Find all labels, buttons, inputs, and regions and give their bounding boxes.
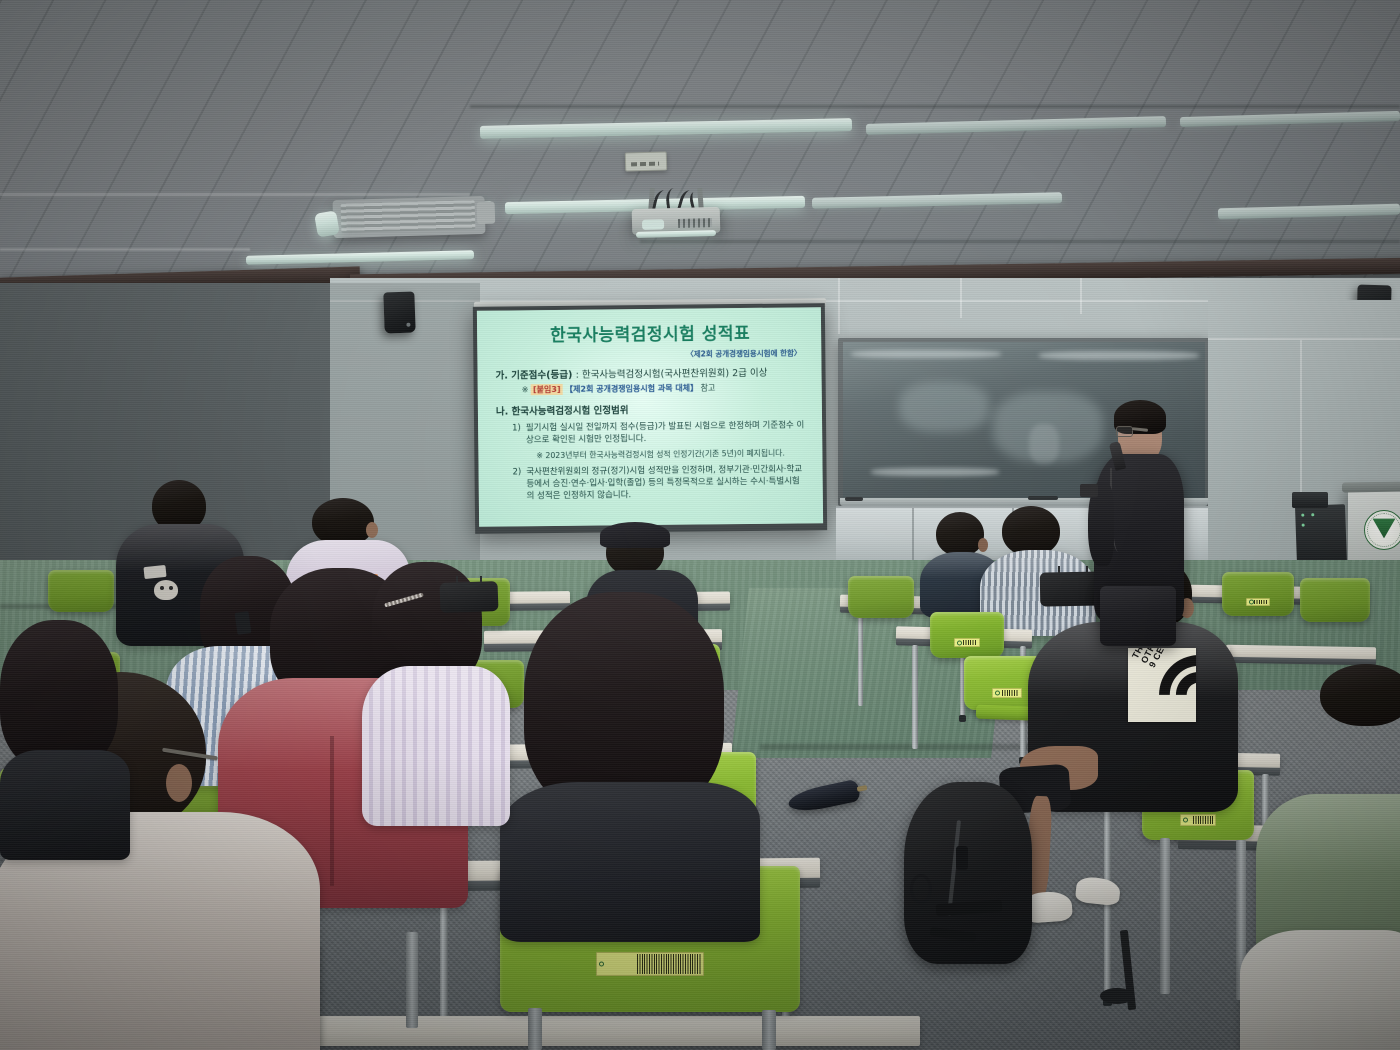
wall-panel-seam [1208, 338, 1400, 340]
chair[interactable] [1300, 578, 1370, 622]
ceiling-seam [470, 105, 1400, 108]
torso [500, 782, 760, 942]
wall-panel-seam [838, 278, 840, 334]
chair-leg [528, 1008, 542, 1050]
ceiling-access-plate [625, 151, 667, 171]
vent-louvers [341, 200, 476, 233]
whiteboard-smudge [851, 350, 1001, 358]
item-number: 1) [512, 422, 521, 447]
slide-content: 한국사능력검정시험 성적표 〈제2회 공개경쟁임용시험에 한함〉 가. 기준점수… [477, 307, 823, 527]
whiteboard-smudge [899, 382, 989, 432]
panel-led [1302, 524, 1305, 527]
cap [600, 522, 670, 548]
whiteboard-smudge [1029, 424, 1059, 464]
chair[interactable] [1222, 572, 1294, 616]
panel-led [1301, 514, 1304, 517]
eyeglasses [1116, 426, 1133, 437]
backpack-strap [936, 900, 1003, 917]
torso [1240, 930, 1400, 1050]
chair-asset-label [596, 952, 704, 976]
label-logo [995, 691, 1000, 696]
vent-sensor [314, 210, 340, 237]
section-b-marker: 나. [496, 406, 508, 417]
tshirt-print [144, 566, 188, 600]
note-emphasis: 【제2회 공개경쟁임용시험 과목 대체】 [565, 383, 698, 393]
note-bullet: ※ [522, 385, 529, 394]
whiteboard-marker [1028, 496, 1058, 500]
chair-leg [406, 932, 418, 1028]
whiteboard-smudge [1039, 351, 1199, 360]
ceiling-air-vent [332, 196, 485, 238]
label-barcode [637, 954, 701, 974]
chair[interactable] [848, 576, 914, 618]
presenter-trousers [1100, 586, 1176, 646]
chair-asset-label [1180, 814, 1216, 826]
blouse-placket [330, 736, 334, 886]
head [312, 498, 374, 546]
presentation-clicker[interactable] [1080, 484, 1098, 497]
slide-subtitle: 〈제2회 공개경쟁임용시험에 한함〉 [495, 347, 805, 361]
label-logo [599, 962, 604, 967]
smartphone[interactable] [235, 611, 252, 635]
note-bracket: [붙임3] [531, 384, 563, 395]
item-text: 국사편찬위원회의 정규(정기)시험 성적만을 인정하며, 정부기관·민간회사·학… [526, 463, 807, 503]
chair-asset-label [954, 638, 980, 647]
label-barcode [1002, 690, 1019, 696]
backpack-strap [930, 927, 977, 942]
desk-leg [912, 645, 918, 749]
chair-asset-label [992, 688, 1022, 698]
ceiling-texture [0, 0, 1400, 300]
chair-back [1300, 578, 1370, 622]
av-control-panel[interactable] [1295, 504, 1347, 566]
panel-led [1311, 513, 1314, 516]
speaker-led [406, 323, 410, 327]
head [1002, 506, 1060, 556]
slide-section-b: 나. 한국사능력검정시험 인정범위 [496, 400, 806, 417]
ceiling [0, 0, 1400, 300]
hair [0, 620, 118, 770]
head [1320, 664, 1400, 726]
item-number: 2) [513, 466, 522, 503]
backpack-loop [910, 874, 932, 904]
plate-markings [631, 162, 659, 167]
slide-title: 한국사능력검정시험 성적표 [495, 318, 805, 346]
label-barcode [963, 640, 977, 645]
wall-panel-seam [1080, 278, 1082, 314]
wall-speaker-left [383, 291, 415, 333]
podium-top-surface [1342, 481, 1400, 492]
chair-leg [762, 1010, 776, 1050]
av-equipment [1292, 492, 1328, 508]
section-a-marker: 가. [496, 370, 508, 381]
ceiling-seam [0, 193, 470, 196]
vent-end-cap [477, 202, 496, 224]
bag-handle [456, 576, 482, 587]
chair-back [1222, 572, 1294, 616]
northface-arcs-icon [1156, 652, 1196, 698]
floor-transition [760, 744, 1060, 750]
cabinet-seam [912, 508, 914, 562]
backpack-buckle [956, 846, 968, 870]
label-logo [957, 640, 962, 645]
wall-panel-seam [960, 278, 962, 318]
slide-section-a: 가. 기준점수(등급) : 한국사능력검정시험(국사편찬위원회) 2급 이상 [495, 364, 805, 381]
label-logo [1183, 818, 1188, 823]
torso [362, 666, 510, 826]
black-backpack[interactable] [904, 782, 1032, 964]
lecture-hall-screenshot: 한국사능력검정시험 성적표 〈제2회 공개경쟁임용시험에 한함〉 가. 기준점수… [0, 0, 1400, 1050]
ceiling-seam [640, 240, 1400, 243]
chair[interactable] [48, 570, 114, 612]
slide-section-a-note: ※ [붙임3] 【제2회 공개경쟁임용시험 과목 대체】 참고 [522, 381, 806, 395]
ceiling-seam [0, 248, 250, 251]
section-b-label: 한국사능력검정시험 인정범위 [512, 405, 629, 417]
projection-screen: 한국사능력검정시험 성적표 〈제2회 공개경쟁임용시험에 한함〉 가. 기준점수… [477, 307, 823, 527]
whiteboard-eraser [845, 497, 863, 501]
ear [366, 522, 378, 538]
chair-asset-label [1246, 598, 1270, 606]
desk-leg [858, 612, 863, 706]
label-barcode [1254, 600, 1267, 604]
chair-leg [1160, 838, 1170, 994]
slide-item: 2) 국사편찬위원회의 정규(정기)시험 성적만을 인정하며, 정부기관·민간회… [513, 463, 807, 503]
chair[interactable] [930, 612, 1004, 658]
slide-item: 1) 필기시험 실시일 전일까지 점수(등급)가 발표된 시험으로 한정하며 기… [512, 419, 806, 447]
projector-vents [678, 218, 712, 228]
shoulder-highlight [362, 666, 510, 826]
chair-back [930, 612, 1004, 658]
label-barcode [1193, 816, 1213, 824]
tshirt-logo: THE OTH 9 CE [1128, 648, 1196, 722]
section-a-body: : 한국사능력검정시험(국사편찬위원회) 2급 이상 [576, 368, 768, 381]
head [936, 512, 984, 556]
chair-back [48, 570, 114, 612]
torso [0, 750, 130, 860]
item-text: 필기시험 실시일 전일까지 점수(등급)가 발표된 시험으로 한정하며 기준점수… [526, 419, 807, 447]
chair-back [848, 576, 914, 618]
tripod-foot [1100, 988, 1134, 1004]
ear [978, 538, 988, 552]
whiteboard-smudge [871, 468, 999, 476]
ear [166, 764, 192, 802]
university-emblem [1364, 510, 1400, 550]
section-a-label: 기준점수(등급) [511, 370, 572, 382]
bag-handle [1058, 566, 1088, 578]
slide-subnote: ※ 2023년부터 한국사능력검정시험 성적 인정기간(기존 5년)이 폐지됩니… [536, 447, 806, 461]
note-tail: 참고 [701, 383, 716, 392]
projector-lens [642, 219, 664, 230]
